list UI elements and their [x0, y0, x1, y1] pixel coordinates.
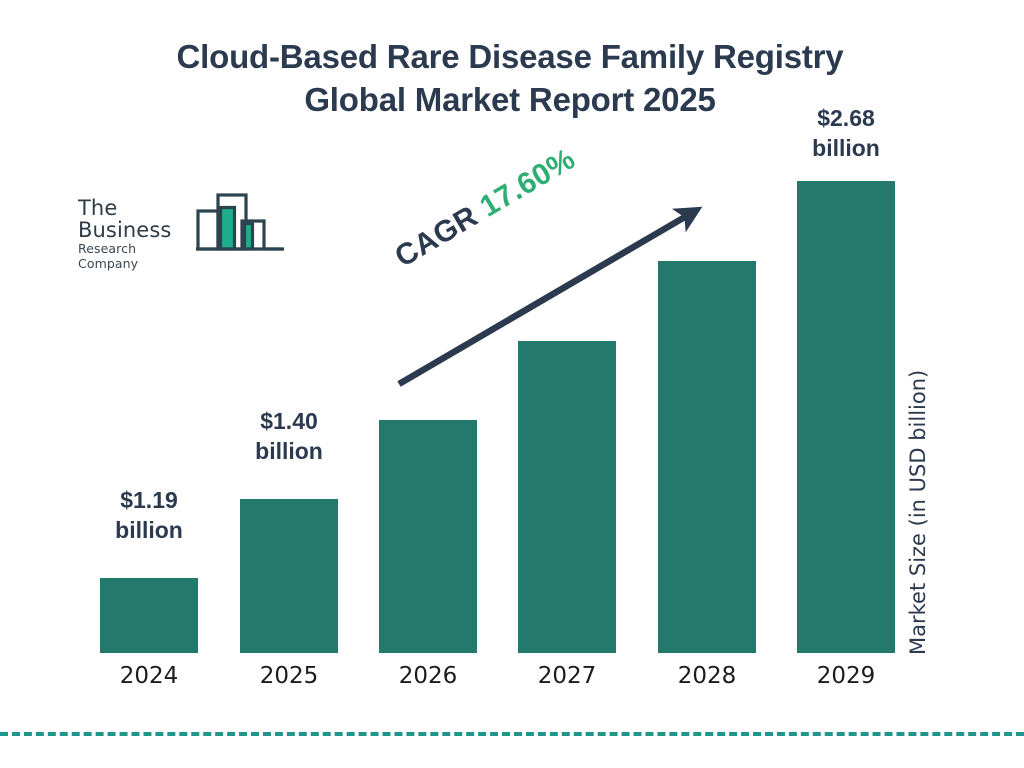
- x-tick-2026: 2026: [358, 663, 498, 689]
- value-label-2025-amount: $1.40: [219, 406, 359, 436]
- bar-2026: [379, 420, 477, 653]
- value-label-2029: $2.68 billion: [776, 103, 916, 164]
- x-tick-2025: 2025: [219, 663, 359, 689]
- bar-2028: [658, 261, 756, 653]
- value-label-2024: $1.19 billion: [79, 485, 219, 546]
- value-label-2025-unit: billion: [219, 436, 359, 466]
- value-label-2029-amount: $2.68: [776, 103, 916, 133]
- y-axis-title: Market Size (in USD billion): [906, 325, 930, 655]
- value-label-2025: $1.40 billion: [219, 406, 359, 467]
- value-label-2024-unit: billion: [79, 515, 219, 545]
- cagr-label: CAGR: [389, 200, 483, 274]
- value-label-2029-unit: billion: [776, 133, 916, 163]
- bar-2029: [797, 181, 895, 653]
- x-tick-2029: 2029: [776, 663, 916, 689]
- bar-2024: [100, 578, 198, 653]
- bar-chart-plot: $1.19 billion $1.40 billion $2.68 billio…: [0, 0, 1024, 768]
- bar-2025: [240, 499, 338, 653]
- x-tick-2024: 2024: [79, 663, 219, 689]
- x-tick-2028: 2028: [637, 663, 777, 689]
- bar-2027: [518, 341, 616, 653]
- value-label-2024-amount: $1.19: [79, 485, 219, 515]
- x-tick-2027: 2027: [497, 663, 637, 689]
- bottom-divider: [0, 732, 1024, 736]
- cagr-annotation: CAGR 17.60%: [389, 142, 581, 274]
- cagr-value: 17.60%: [474, 142, 580, 223]
- chart-canvas: Cloud-Based Rare Disease Family Registry…: [0, 0, 1024, 768]
